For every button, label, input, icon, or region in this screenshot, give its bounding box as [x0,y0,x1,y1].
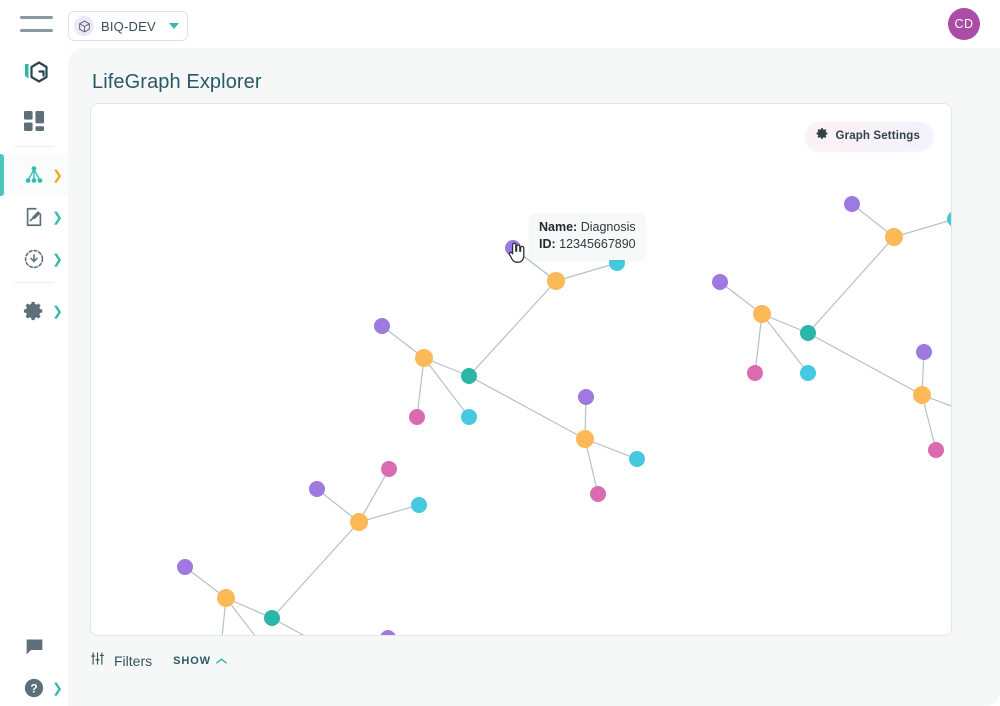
project-selector-button[interactable]: BIQ-DEV [68,11,188,41]
sidebar-item-downloads[interactable]: ❯ [0,238,68,280]
graph-node[interactable] [753,305,771,323]
graph-node[interactable] [177,559,193,575]
graph-canvas-panel[interactable]: Graph Settings [90,103,952,636]
sidebar-item-lifegraph[interactable]: ❯ [0,154,68,196]
graph-edge [808,333,922,395]
graph-node[interactable] [217,589,235,607]
graph-node[interactable] [576,430,594,448]
graph-node[interactable] [590,486,606,502]
graph-node[interactable] [629,451,645,467]
graph-node[interactable] [374,318,390,334]
graph-settings-button[interactable]: Graph Settings [806,122,933,150]
graph-network-icon [22,163,46,187]
hamburger-menu-icon[interactable] [20,16,53,32]
graph-node[interactable] [547,272,565,290]
chevron-right-icon: ❯ [52,682,63,695]
chevron-right-icon: ❯ [52,253,63,266]
graph-settings-label: Graph Settings [835,130,920,142]
graph-node[interactable] [415,349,433,367]
lifegraph-logo[interactable] [0,48,68,98]
gear-icon [816,127,829,145]
download-circle-icon [22,247,46,271]
sliders-icon [90,651,105,671]
show-label: SHOW [173,655,211,667]
graph-node[interactable] [381,461,397,477]
graph-node[interactable] [800,325,816,341]
graph-edge [469,376,585,439]
chevron-right-icon: ❯ [52,305,63,318]
graph-node[interactable] [461,368,477,384]
chevron-right-icon: ❯ [52,169,63,182]
graph-node[interactable] [747,365,763,381]
sidebar-divider [14,282,54,283]
tooltip-name-value: Diagnosis [581,220,636,234]
node-tooltip: Name: Diagnosis ID: 12345667890 [529,213,646,260]
graph-node[interactable] [928,442,944,458]
graph-node[interactable] [578,389,594,405]
graph-edge [359,505,419,522]
sidebar-item-documents[interactable]: ❯ [0,196,68,238]
graph-node[interactable] [947,211,952,227]
svg-text:?: ? [30,682,37,696]
graph-node[interactable] [800,365,816,381]
graph-node[interactable] [844,196,860,212]
graph-node[interactable] [885,228,903,246]
top-bar: BIQ-DEV CD [0,0,1000,48]
sidebar-item-help[interactable]: ? ❯ [0,667,68,706]
graph-visualization[interactable] [91,104,952,636]
filters-label: Filters [114,653,152,669]
graph-edge [894,219,952,237]
active-indicator [0,154,4,196]
sidebar-item-dashboard[interactable] [0,100,68,142]
question-circle-icon: ? [22,676,46,700]
chevron-right-icon: ❯ [52,211,63,224]
page-title: LifeGraph Explorer [92,71,262,94]
tooltip-name-row: Name: Diagnosis [539,219,636,236]
sidebar-item-feedback[interactable] [0,625,68,667]
graph-edge [762,314,808,373]
dashboard-grid-icon [22,109,46,133]
graph-edge [469,281,556,376]
document-edit-icon [22,205,46,229]
graph-node[interactable] [461,409,477,425]
tooltip-name-key: Name: [539,220,577,234]
graph-edge [272,618,387,636]
tooltip-id-value: 12345667890 [559,237,635,251]
app-root: BIQ-DEV CD [0,0,1000,706]
graph-node[interactable] [380,630,396,636]
sidebar-item-settings[interactable]: ❯ [0,290,68,332]
project-name-label: BIQ-DEV [101,19,156,34]
chat-bubble-icon [22,634,46,658]
graph-node[interactable] [264,610,280,626]
chevron-up-icon [216,652,227,670]
graph-node[interactable] [409,409,425,425]
chevron-down-icon [169,23,179,29]
graph-node[interactable] [411,497,427,513]
cube-icon [74,16,94,36]
graph-edge [272,522,359,618]
graph-node[interactable] [712,274,728,290]
graph-node[interactable] [913,386,931,404]
graph-node[interactable] [350,513,368,531]
footer-bar: Filters SHOW [90,646,952,676]
avatar[interactable]: CD [948,8,980,40]
sidebar: ❯ ❯ ❯ [0,48,68,706]
graph-node[interactable] [916,344,932,360]
gear-icon [22,299,46,323]
sidebar-divider [14,146,54,147]
graph-node[interactable] [309,481,325,497]
graph-node[interactable] [505,240,521,256]
graph-edge [808,237,894,333]
graph-edge [556,263,617,281]
tooltip-id-key: ID: [539,237,556,251]
avatar-initials: CD [954,17,973,31]
main-content: LifeGraph Explorer Graph Settings Name: … [68,48,1000,706]
tooltip-id-row: ID: 12345667890 [539,236,636,253]
show-filters-toggle[interactable]: SHOW [173,652,227,670]
graph-edge [359,469,389,522]
